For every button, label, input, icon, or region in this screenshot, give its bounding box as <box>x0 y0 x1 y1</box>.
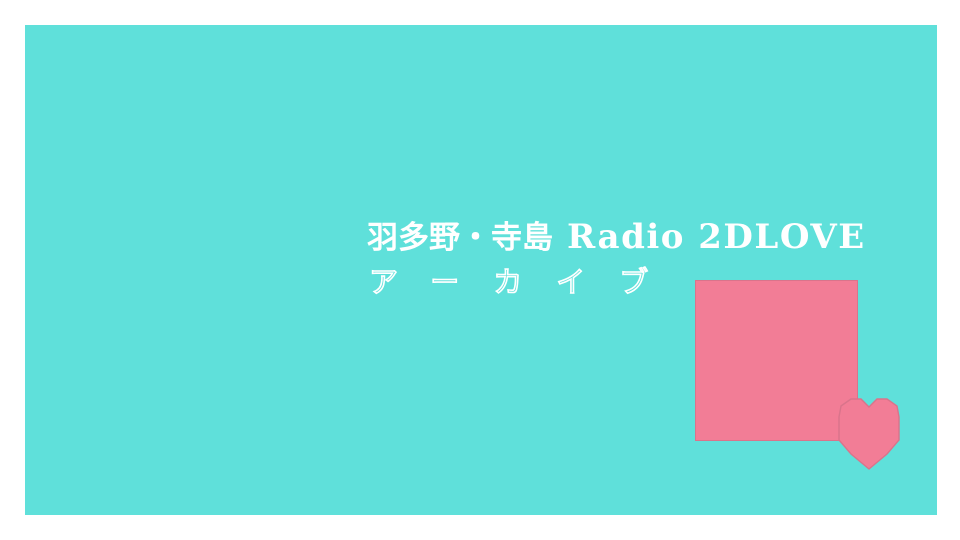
title-card-stage: 羽多野・寺島Radio 2DLOVE アーカイブ <box>0 0 960 540</box>
title-latin: Radio 2DLOVE <box>567 217 866 257</box>
page-title: 羽多野・寺島Radio 2DLOVE <box>367 220 887 254</box>
title-japanese: 羽多野・寺島 <box>367 220 553 256</box>
title-text-block: 羽多野・寺島Radio 2DLOVE アーカイブ <box>367 220 887 297</box>
heart-icon <box>827 396 911 472</box>
subtitle-archive: アーカイブ <box>369 268 887 297</box>
pink-heart-decoration <box>827 396 911 472</box>
